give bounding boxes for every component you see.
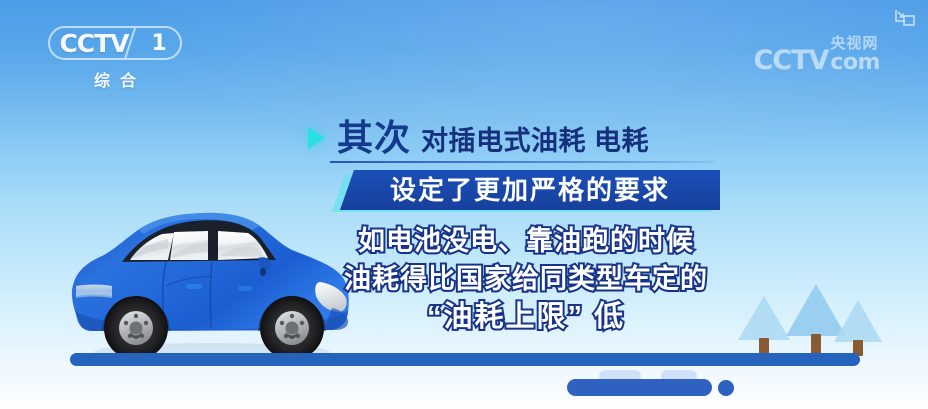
banner: 设定了更加严格的要求 <box>332 170 720 214</box>
watermark-cn-text: 央视网 <box>830 36 878 51</box>
headline-emphasis: 其次 <box>337 120 411 156</box>
picture-in-picture-icon[interactable] <box>894 8 916 28</box>
pine-tree-icon <box>832 300 884 356</box>
broadcast-frame: CCTV 1 综合 CCTV 央视网 com 其次 对插电式油耗 电耗 设定了更… <box>0 0 928 409</box>
watermark-brand: CCTV <box>753 47 828 74</box>
cctv-logo-badge: CCTV 1 <box>48 26 182 60</box>
headline-underline <box>330 161 714 163</box>
body-line-3: “油耗上限” 低 <box>330 298 722 336</box>
watermark-domain: com <box>830 52 880 74</box>
ground-bar <box>70 353 860 366</box>
body-line-2: 油耗得比国家给同类型车定的 <box>330 260 722 298</box>
deco-dot <box>718 380 734 396</box>
banner-text: 设定了更加严格的要求 <box>390 177 670 203</box>
body-line-1: 如电池没电、靠油跑的时候 <box>330 222 722 260</box>
watermark-right: 央视网 com <box>830 36 880 74</box>
headline-rest: 对插电式油耗 电耗 <box>421 128 649 155</box>
blue-hatchback-car-icon <box>62 200 362 370</box>
body-text-block: 如电池没电、靠油跑的时候 油耗得比国家给同类型车定的 “油耗上限” 低 <box>330 222 722 336</box>
cctv-logo-text: CCTV <box>59 31 128 56</box>
triangle-right-icon <box>308 127 325 149</box>
cctv-logo-number: 1 <box>138 28 180 58</box>
cctv-logo-subtitle: 综合 <box>48 67 182 91</box>
cctv-com-watermark: CCTV 央视网 com <box>753 36 880 74</box>
cctv1-channel-logo: CCTV 1 综合 <box>48 26 198 88</box>
deco-bar <box>567 379 712 396</box>
headline: 其次 对插电式油耗 电耗 <box>308 120 649 156</box>
banner-body: 设定了更加严格的要求 <box>340 170 720 210</box>
